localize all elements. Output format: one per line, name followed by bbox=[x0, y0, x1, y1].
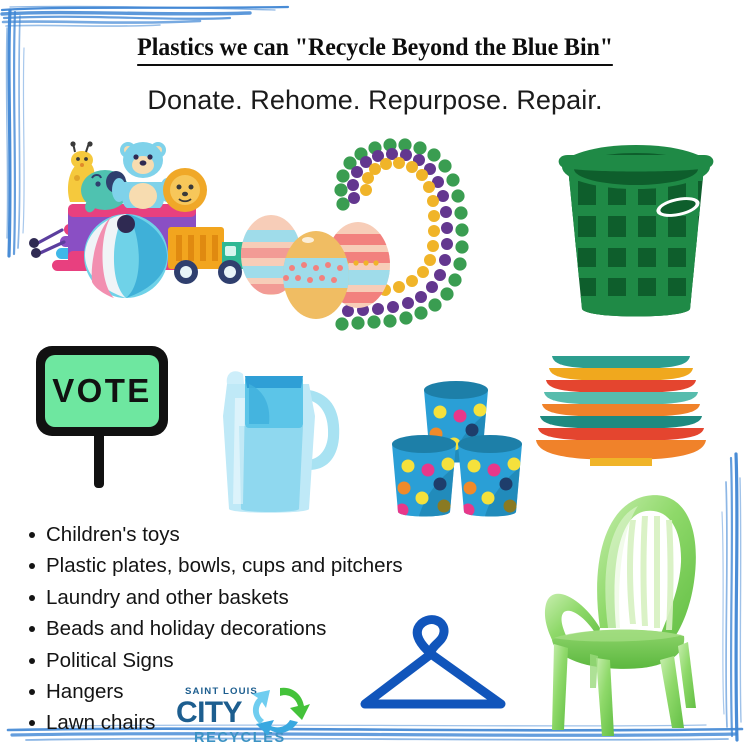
list-item: Plastic plates, bowls, cups and pitchers bbox=[46, 550, 403, 581]
list-item: Laundry and other baskets bbox=[46, 582, 403, 613]
illustration-laundry-basket bbox=[548, 133, 724, 329]
chair-slats bbox=[627, 516, 674, 630]
list-item: Children's toys bbox=[46, 519, 403, 550]
cup-front-right bbox=[458, 435, 524, 520]
illustration-stacked-plates bbox=[530, 348, 712, 470]
vote-sign-text: VOTE bbox=[52, 372, 151, 409]
illustration-lawn-chair bbox=[534, 478, 734, 740]
page-title: Plastics we can "Recycle Beyond the Blue… bbox=[137, 32, 613, 66]
illustration-water-pitcher bbox=[205, 354, 355, 517]
beach-ball-icon bbox=[84, 214, 168, 298]
illustration-polka-dot-cups bbox=[388, 372, 528, 528]
lion-toy-icon bbox=[163, 168, 207, 212]
illustration-childrens-toys bbox=[22, 132, 244, 310]
illustration-easter-eggs-and-mardi-gras-beads bbox=[226, 130, 508, 346]
illustration-vote-yard-sign: VOTE bbox=[28, 338, 183, 493]
poster-canvas: Plastics we can "Recycle Beyond the Blue… bbox=[0, 0, 750, 750]
list-item: Beads and holiday decorations bbox=[46, 613, 403, 644]
poster-title-wrapper: Plastics we can "Recycle Beyond the Blue… bbox=[0, 32, 750, 66]
list-item: Hangers bbox=[46, 676, 403, 707]
list-item: Lawn chairs bbox=[46, 707, 403, 738]
cup-front-left bbox=[392, 435, 458, 520]
poster-subtitle: Donate. Rehome. Repurpose. Repair. bbox=[0, 85, 750, 116]
border-brush-stroke-top bbox=[0, 4, 290, 30]
svg-text:VOTE: VOTE bbox=[52, 372, 151, 409]
sign-stake bbox=[94, 432, 104, 488]
list-item: Political Signs bbox=[46, 645, 403, 676]
materials-bullet-list: Children's toys Plastic plates, bowls, c… bbox=[22, 519, 403, 739]
plate-stack bbox=[536, 356, 706, 466]
